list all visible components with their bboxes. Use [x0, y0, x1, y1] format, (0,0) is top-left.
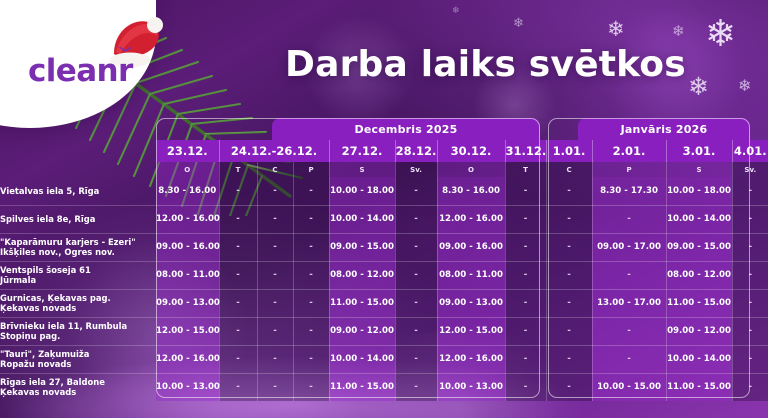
- col-header-date-7: 31.12.: [505, 140, 546, 162]
- hours-cell: -: [732, 345, 768, 373]
- hours-cell: -: [293, 177, 329, 205]
- hours-cell: 10.00 - 13.00: [437, 373, 505, 401]
- hours-cell: 08.00 - 11.00: [156, 261, 219, 289]
- col-header-dow-4: S: [329, 162, 395, 177]
- hours-cell: -: [395, 233, 437, 261]
- hours-cell: -: [395, 177, 437, 205]
- hours-cell: -: [257, 289, 293, 317]
- hours-cell: -: [546, 373, 592, 401]
- snowflake-icon: ❄: [452, 5, 460, 16]
- hours-cell: 08.00 - 12.00: [666, 261, 732, 289]
- hours-cell: 10.00 - 18.00: [666, 177, 732, 205]
- weekday-header-row: O T C P S Sv. O T C P S Sv.: [0, 162, 768, 177]
- hours-cell: 13.00 - 17.00: [592, 289, 666, 317]
- table-row: Vietalvas iela 5, Rīga8.30 - 16.00---10.…: [0, 177, 768, 205]
- hours-cell: -: [219, 233, 257, 261]
- hours-cell: -: [546, 177, 592, 205]
- table-row: "Kaparāmuru karjers - Ezeri"Ikšķiles nov…: [0, 233, 768, 261]
- hours-cell: -: [257, 317, 293, 345]
- hours-cell: -: [395, 373, 437, 401]
- hours-cell: 8.30 - 17.30: [592, 177, 666, 205]
- month-header-december: Decembris 2025: [272, 118, 540, 140]
- hours-cell: 11.00 - 15.00: [329, 373, 395, 401]
- hours-cell: -: [505, 317, 546, 345]
- col-header-dow-9: P: [592, 162, 666, 177]
- row-location-label: "Kaparāmuru karjers - Ezeri"Ikšķiles nov…: [0, 233, 156, 261]
- hours-cell: 8.30 - 16.00: [156, 177, 219, 205]
- col-header-date-6: 30.12.: [437, 140, 505, 162]
- hours-cell: -: [293, 261, 329, 289]
- table-row: Brīvnieku iela 11, RumbulaStopiņu pag.12…: [0, 317, 768, 345]
- hours-cell: 10.00 - 13.00: [156, 373, 219, 401]
- hours-cell: -: [592, 345, 666, 373]
- col-header-date-9: 2.01.: [592, 140, 666, 162]
- hours-cell: -: [293, 233, 329, 261]
- hours-cell: -: [505, 205, 546, 233]
- hours-cell: 12.00 - 16.00: [437, 345, 505, 373]
- logo-caron-r: r: [118, 56, 133, 87]
- snowflake-icon: ❄: [607, 17, 625, 42]
- col-header-dow-10: S: [666, 162, 732, 177]
- col-header-date-11: 4.01.: [732, 140, 768, 162]
- hours-cell: -: [293, 317, 329, 345]
- col-header-dow-6: O: [437, 162, 505, 177]
- hours-cell: -: [219, 345, 257, 373]
- hours-cell: -: [293, 205, 329, 233]
- hours-cell: 10.00 - 14.00: [329, 205, 395, 233]
- col-header-dow-0: O: [156, 162, 219, 177]
- hours-cell: 09.00 - 12.00: [666, 317, 732, 345]
- hours-cell: 08.00 - 12.00: [329, 261, 395, 289]
- col-header-dow-11: Sv.: [732, 162, 768, 177]
- logo-text: clean: [28, 56, 118, 87]
- month-header-january: Janvāris 2026: [578, 118, 750, 140]
- hours-cell: 10.00 - 14.00: [666, 205, 732, 233]
- hours-cell: 10.00 - 15.00: [592, 373, 666, 401]
- hours-cell: 11.00 - 15.00: [666, 289, 732, 317]
- col-header-date-5: 28.12.: [395, 140, 437, 162]
- hours-cell: -: [395, 317, 437, 345]
- hours-cell: -: [505, 373, 546, 401]
- row-location-label: Spilves iela 8e, Rīga: [0, 205, 156, 233]
- row-location-label: "Tauri", ZaķumuižaRopažu novads: [0, 345, 156, 373]
- hours-cell: 11.00 - 15.00: [666, 373, 732, 401]
- table-row: Gurnicas, Ķekavas pag.Ķekavas novads09.0…: [0, 289, 768, 317]
- hours-cell: -: [293, 373, 329, 401]
- table-row: Rīgas iela 27, BaldoneĶekavas novads10.0…: [0, 373, 768, 401]
- date-header-row: 23.12. 24.12.-26.12. 27.12. 28.12. 30.12…: [0, 140, 768, 162]
- poster-root: cleanr Darba laiks svētkos ❄ ❄ ❄ ❄ ❄ ❄ ❄…: [0, 0, 768, 418]
- row-location-label: Rīgas iela 27, BaldoneĶekavas novads: [0, 373, 156, 401]
- page-title: Darba laiks svētkos: [285, 44, 686, 85]
- col-header-dow-5: Sv.: [395, 162, 437, 177]
- hours-cell: -: [546, 289, 592, 317]
- hours-cell: 12.00 - 15.00: [437, 317, 505, 345]
- row-location-label: Vietalvas iela 5, Rīga: [0, 177, 156, 205]
- col-header-date-4: 27.12.: [329, 140, 395, 162]
- hours-cell: 11.00 - 15.00: [329, 289, 395, 317]
- col-header-dow-3: P: [293, 162, 329, 177]
- hours-cell: 12.00 - 16.00: [156, 345, 219, 373]
- row-location-label: Ventspils šoseja 61Jūrmala: [0, 261, 156, 289]
- hours-cell: 09.00 - 15.00: [329, 233, 395, 261]
- hours-cell: -: [257, 233, 293, 261]
- weekday-spacer: [0, 162, 156, 177]
- hours-cell: -: [732, 317, 768, 345]
- hours-cell: -: [505, 177, 546, 205]
- snowflake-icon: ❄: [738, 76, 751, 96]
- col-header-date-10: 3.01.: [666, 140, 732, 162]
- col-header-dow-8: C: [546, 162, 592, 177]
- hours-cell: -: [293, 345, 329, 373]
- hours-body: Vietalvas iela 5, Rīga8.30 - 16.00---10.…: [0, 177, 768, 401]
- snowflake-icon: ❄: [672, 22, 685, 40]
- col-header-date-0: 23.12.: [156, 140, 219, 162]
- hours-cell: -: [219, 373, 257, 401]
- hours-cell: 10.00 - 18.00: [329, 177, 395, 205]
- hours-cell: -: [732, 233, 768, 261]
- hours-cell: -: [732, 289, 768, 317]
- hours-grid: 23.12. 24.12.-26.12. 27.12. 28.12. 30.12…: [0, 140, 768, 401]
- hours-cell: -: [546, 345, 592, 373]
- hours-cell: -: [546, 233, 592, 261]
- hours-cell: -: [395, 345, 437, 373]
- hours-cell: -: [592, 261, 666, 289]
- col-header-dow-1: T: [219, 162, 257, 177]
- hours-cell: 09.00 - 12.00: [329, 317, 395, 345]
- hours-cell: -: [395, 289, 437, 317]
- hours-cell: -: [293, 289, 329, 317]
- hours-cell: -: [257, 345, 293, 373]
- hours-cell: -: [219, 317, 257, 345]
- hours-cell: -: [505, 289, 546, 317]
- col-header-date-1: 24.12.-26.12.: [219, 140, 329, 162]
- hours-cell: -: [592, 205, 666, 233]
- hours-cell: -: [219, 177, 257, 205]
- hours-cell: -: [219, 261, 257, 289]
- row-location-label: Gurnicas, Ķekavas pag.Ķekavas novads: [0, 289, 156, 317]
- hours-cell: -: [505, 261, 546, 289]
- hours-cell: -: [732, 261, 768, 289]
- hours-cell: -: [395, 205, 437, 233]
- hours-cell: -: [732, 177, 768, 205]
- hours-cell: 09.00 - 16.00: [437, 233, 505, 261]
- hours-cell: -: [505, 233, 546, 261]
- hours-cell: -: [546, 261, 592, 289]
- hours-cell: 09.00 - 13.00: [437, 289, 505, 317]
- table-row: "Tauri", ZaķumuižaRopažu novads12.00 - 1…: [0, 345, 768, 373]
- hours-cell: 09.00 - 13.00: [156, 289, 219, 317]
- row-location-label: Brīvnieku iela 11, RumbulaStopiņu pag.: [0, 317, 156, 345]
- hours-cell: 09.00 - 15.00: [666, 233, 732, 261]
- hours-cell: 10.00 - 14.00: [666, 345, 732, 373]
- hours-cell: 08.00 - 11.00: [437, 261, 505, 289]
- hours-cell: -: [219, 289, 257, 317]
- location-header: [0, 140, 156, 162]
- hours-cell: -: [505, 345, 546, 373]
- snowflake-icon: ❄: [513, 15, 524, 31]
- hours-cell: -: [546, 317, 592, 345]
- hours-cell: -: [732, 373, 768, 401]
- table-row: Ventspils šoseja 61Jūrmala08.00 - 11.00-…: [0, 261, 768, 289]
- schedule-table: Decembris 2025 Janvāris 2026 23.12. 24.1…: [0, 118, 768, 400]
- brand-logo: cleanr: [28, 56, 133, 87]
- col-header-date-8: 1.01.: [546, 140, 592, 162]
- hours-cell: 09.00 - 16.00: [156, 233, 219, 261]
- snowflake-icon: ❄: [705, 12, 736, 55]
- hours-cell: 12.00 - 16.00: [437, 205, 505, 233]
- col-header-dow-7: T: [505, 162, 546, 177]
- hours-cell: -: [257, 177, 293, 205]
- hours-cell: -: [546, 205, 592, 233]
- table-row: Spilves iela 8e, Rīga12.00 - 16.00---10.…: [0, 205, 768, 233]
- hours-cell: 8.30 - 16.00: [437, 177, 505, 205]
- hours-cell: 12.00 - 15.00: [156, 317, 219, 345]
- hours-cell: 12.00 - 16.00: [156, 205, 219, 233]
- hours-cell: 09.00 - 17.00: [592, 233, 666, 261]
- snowflake-icon: ❄: [688, 72, 709, 102]
- hours-cell: 10.00 - 14.00: [329, 345, 395, 373]
- hours-cell: -: [732, 205, 768, 233]
- hours-cell: -: [257, 261, 293, 289]
- hours-cell: -: [219, 205, 257, 233]
- hours-cell: -: [257, 373, 293, 401]
- col-header-dow-2: C: [257, 162, 293, 177]
- hours-cell: -: [395, 261, 437, 289]
- hours-cell: -: [257, 205, 293, 233]
- hours-cell: -: [592, 317, 666, 345]
